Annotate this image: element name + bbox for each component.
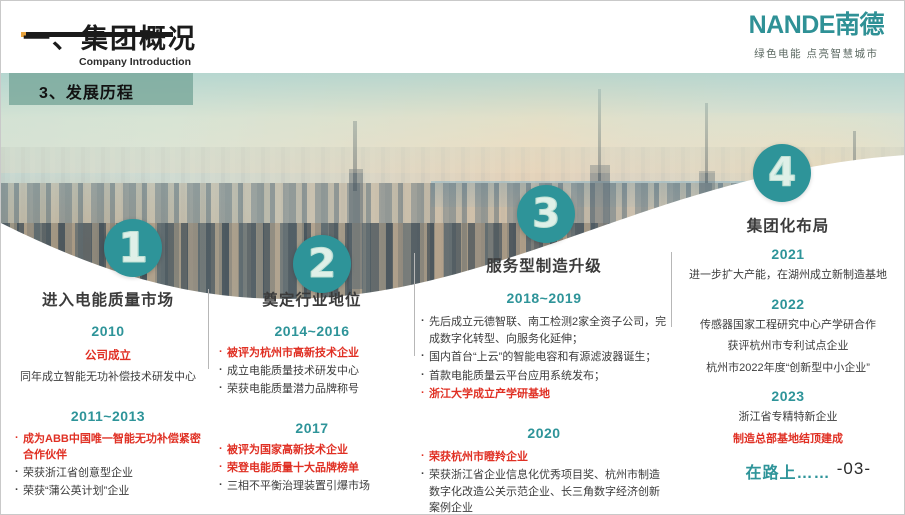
year-lines: 浙江省专精特新企业制造总部基地结顶建成 (677, 409, 899, 447)
bullet-list: 被评为杭州市高新技术企业成立电能质量技术研发中心荣获电能质量潜力品牌称号 (219, 346, 405, 398)
slide-header: 一、集团概况 Company Introduction NANDE南德 绿色电能… (1, 1, 905, 73)
logo-tagline: 绿色电能 点亮智慧城市 (749, 46, 884, 61)
bullet-list: 先后成立元德智联、南工检测2家全资子公司，完成数字化转型、向服务化延伸；国内首台… (421, 314, 667, 403)
bullet-item: 国内首台“上云”的智能电容和有源滤波器诞生； (421, 349, 667, 366)
badge-number: 2 (308, 244, 336, 284)
bullet-list: 荣获杭州市瞪羚企业荣获浙江省企业信息化优秀项目奖、杭州市制造数字化改造公关示范企… (421, 449, 667, 515)
timeline-column-1: 进入电能质量市场 2010 公司成立 同年成立智能无功补偿技术研发中心 2011… (15, 288, 201, 502)
bullet-item: 荣获“蒲公英计划”企业 (15, 484, 201, 500)
bullet-item: 浙江大学成立产学研基地 (421, 386, 667, 403)
bullet-item: 被评为国家高新技术企业 (219, 443, 405, 459)
column-title: 服务型制造升级 (421, 254, 667, 276)
year-label: 2017 (219, 420, 405, 436)
timeline-badge-3: 3 (517, 185, 575, 243)
year-label: 2010 (15, 323, 201, 339)
bullet-item: 荣获电能质量潜力品牌称号 (219, 382, 405, 398)
page-title: 一、集团概况 (23, 17, 197, 56)
page-number: -03- (837, 459, 871, 479)
badge-number: 1 (118, 227, 147, 269)
year-highlight: 公司成立 (15, 347, 201, 363)
year-lines: 进一步扩大产能，在湖州成立新制造基地 (677, 267, 899, 284)
bullet-list: 成为ABB中国唯一智能无功补偿紧密合作伙伴荣获浙江省创意型企业荣获“蒲公英计划”… (15, 432, 201, 500)
year-lines: 传感器国家工程研究中心产学研合作获评杭州市专利试点企业杭州市2022年度“创新型… (677, 317, 899, 377)
year-label: 2018~2019 (421, 290, 667, 306)
bullet-item: 三相不平衡治理装置引爆市场 (219, 479, 405, 495)
bullet-item: 成立电能质量技术研发中心 (219, 364, 405, 380)
column-divider (208, 289, 209, 369)
column-divider (414, 253, 415, 356)
bullet-item: 被评为杭州市高新技术企业 (219, 346, 405, 362)
timeline-column-4: 集团化布局 2021 进一步扩大产能，在湖州成立新制造基地 2022 传感器国家… (677, 214, 899, 483)
year-label: 2014~2016 (219, 323, 405, 339)
page-subtitle-en: Company Introduction (79, 56, 191, 68)
column-title: 集团化布局 (677, 214, 899, 236)
section-chip: 3、发展历程 (9, 73, 193, 105)
detail-line: 杭州市2022年度“创新型中小企业” (677, 360, 899, 377)
year-label: 2021 (677, 246, 899, 262)
detail-line: 制造总部基地结顶建成 (677, 431, 899, 448)
detail-line: 浙江省专精特新企业 (677, 409, 899, 426)
year-label: 2011~2013 (15, 408, 201, 424)
year-label: 2023 (677, 388, 899, 404)
bullet-item: 荣登电能质量十大品牌榜单 (219, 461, 405, 477)
detail-line: 获评杭州市专利试点企业 (677, 338, 899, 355)
brand-logo: NANDE南德 绿色电能 点亮智慧城市 (749, 13, 884, 61)
detail-line: 传感器国家工程研究中心产学研合作 (677, 317, 899, 334)
column-divider (671, 252, 672, 327)
slide: 一、集团概况 Company Introduction NANDE南德 绿色电能… (0, 0, 905, 515)
logo-wordmark: NANDE南德 (749, 13, 884, 38)
timeline-column-3: 服务型制造升级 2018~2019 先后成立元德智联、南工检测2家全资子公司，完… (421, 254, 667, 515)
bullet-item: 荣获浙江省企业信息化优秀项目奖、杭州市制造数字化改造公关示范企业、长三角数字经济… (421, 467, 667, 515)
column-title: 进入电能质量市场 (15, 288, 201, 310)
badge-number: 4 (768, 153, 796, 193)
timeline-badge-2: 2 (293, 235, 351, 293)
bullet-item: 荣获杭州市瞪羚企业 (421, 449, 667, 466)
detail-line: 进一步扩大产能，在湖州成立新制造基地 (677, 267, 899, 284)
timeline-badge-4: 4 (753, 144, 811, 202)
bullet-list: 被评为国家高新技术企业荣登电能质量十大品牌榜单三相不平衡治理装置引爆市场 (219, 443, 405, 495)
year-label: 2020 (421, 425, 667, 441)
bullet-item: 首款电能质量云平台应用系统发布； (421, 368, 667, 385)
section-chip-label: 3、发展历程 (39, 79, 134, 103)
bullet-item: 先后成立元德智联、南工检测2家全资子公司，完成数字化转型、向服务化延伸； (421, 314, 667, 347)
timeline-badge-1: 1 (104, 219, 162, 277)
year-note: 同年成立智能无功补偿技术研发中心 (15, 368, 201, 384)
bullet-item: 荣获浙江省创意型企业 (15, 466, 201, 482)
photo-tower-1 (349, 169, 363, 289)
badge-number: 3 (532, 194, 560, 234)
year-label: 2022 (677, 296, 899, 312)
timeline-column-2: 奠定行业地位 2014~2016 被评为杭州市高新技术企业成立电能质量技术研发中… (219, 288, 405, 497)
bullet-item: 成为ABB中国唯一智能无功补偿紧密合作伙伴 (15, 432, 201, 464)
